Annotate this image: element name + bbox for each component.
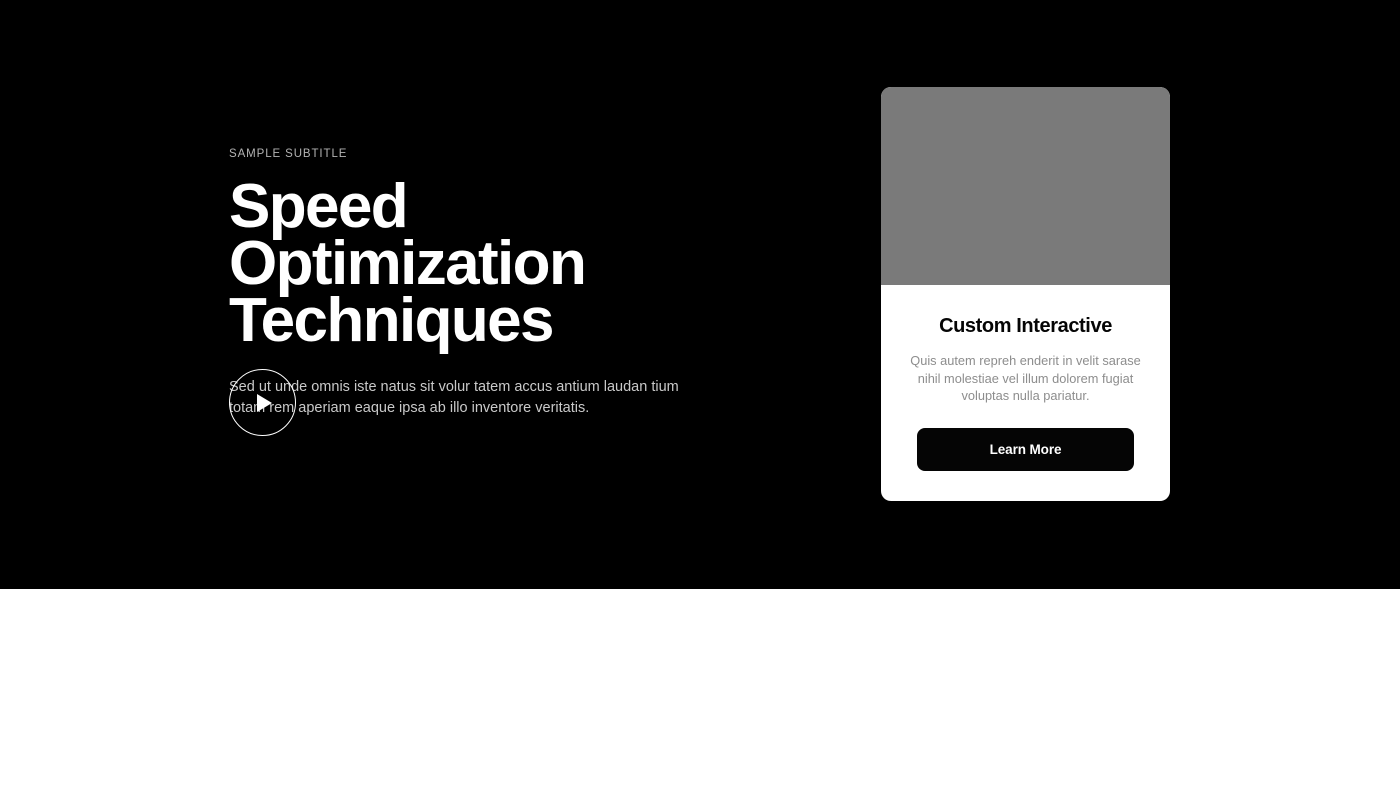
card-body: Custom Interactive Quis autem repreh end…	[881, 285, 1170, 501]
lower-white-section	[0, 589, 1400, 788]
play-icon	[257, 394, 272, 412]
page-root: SAMPLE SUBTITLE Speed Optimization Techn…	[0, 0, 1400, 788]
page-title: Speed Optimization Techniques	[229, 178, 699, 349]
card-image-placeholder	[881, 87, 1170, 285]
feature-card: Custom Interactive Quis autem repreh end…	[881, 87, 1170, 501]
card-description: Quis autem repreh enderit in velit saras…	[905, 352, 1146, 405]
card-title: Custom Interactive	[905, 313, 1146, 339]
play-video-button[interactable]	[229, 369, 296, 436]
hero-section: SAMPLE SUBTITLE Speed Optimization Techn…	[0, 0, 1400, 589]
hero-subtitle: SAMPLE SUBTITLE	[229, 146, 699, 162]
learn-more-button[interactable]: Learn More	[917, 428, 1134, 471]
hero-description: Sed ut unde omnis iste natus sit volur t…	[229, 377, 681, 419]
hero-copy-block: SAMPLE SUBTITLE Speed Optimization Techn…	[229, 146, 699, 419]
